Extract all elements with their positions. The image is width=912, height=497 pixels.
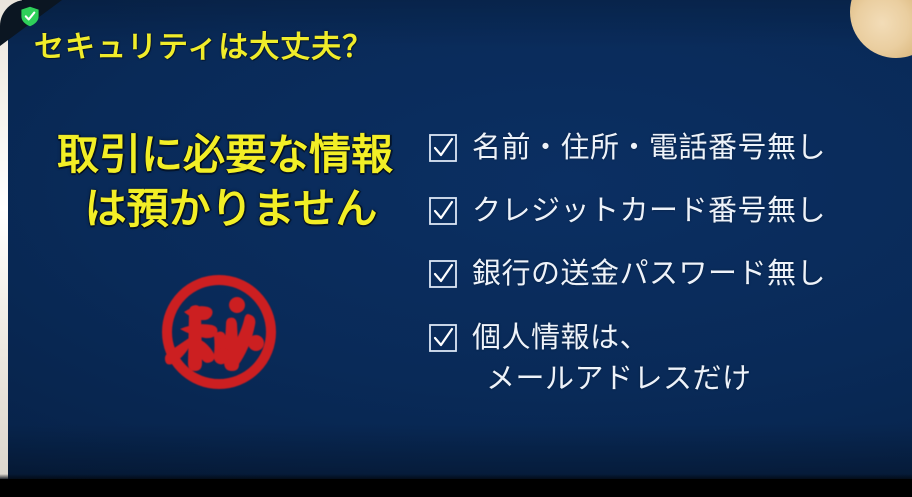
slide-title: セキュリティは大丈夫？ (34, 22, 373, 66)
checklist-item-label: 個人情報は、 メールアドレスだけ (472, 318, 752, 400)
headline-line-2: は預かりません (30, 182, 420, 236)
checked-checkbox-icon (428, 133, 458, 163)
checklist-item: 個人情報は、 メールアドレスだけ (428, 318, 912, 400)
checked-checkbox-icon (428, 196, 458, 226)
checklist-item-text: 名前・住所・電話番号無し (472, 132, 826, 164)
checklist-item-label: クレジットカード番号無し (472, 191, 826, 232)
checked-checkbox-icon (428, 323, 458, 353)
maru-hi-confidential-stamp-icon (156, 272, 282, 392)
checked-checkbox-icon (428, 259, 458, 289)
checklist-item: 名前・住所・電話番号無し (428, 128, 912, 169)
checklist-item-text: 銀行の送金パスワード無し (472, 258, 826, 290)
checklist-item-subtext: メールアドレスだけ (472, 359, 752, 400)
checklist-item-text: クレジットカード番号無し (472, 195, 826, 227)
checklist-item-label: 名前・住所・電話番号無し (472, 128, 826, 169)
checklist-item-text: 個人情報は、 (472, 322, 649, 354)
checklist-item-label: 銀行の送金パスワード無し (472, 254, 826, 295)
presentation-slide: セキュリティは大丈夫？ 取引に必要な情報 は預かりません (8, 0, 912, 481)
verified-shield-check-icon (20, 6, 40, 27)
headline-line-1: 取引に必要な情報 (30, 128, 420, 182)
checklist-item: クレジットカード番号無し (428, 191, 912, 232)
security-checklist: 名前・住所・電話番号無し クレジットカード番号無し (428, 128, 912, 400)
bottom-letterbox-bar (0, 479, 912, 497)
checklist-item: 銀行の送金パスワード無し (428, 254, 912, 295)
headline-block: 取引に必要な情報 は預かりません (30, 128, 420, 236)
screenshot-stage: セキュリティは大丈夫？ 取引に必要な情報 は預かりません (0, 0, 912, 497)
